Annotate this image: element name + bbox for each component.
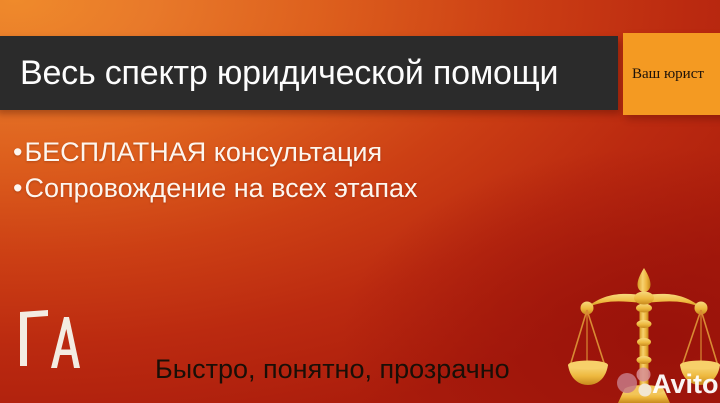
tagline-text: Быстро, понятно, прозрачно xyxy=(155,354,510,385)
legal-services-ad-banner: Весь спектр юридической помощи Ваш юрист… xyxy=(0,0,720,403)
brand-badge-label: Ваш юрист xyxy=(623,66,704,83)
monogram-ga-icon xyxy=(18,302,80,368)
svg-text:Avito: Avito xyxy=(652,369,719,399)
list-item-label: БЕСПЛАТНАЯ консультация xyxy=(24,134,382,170)
avito-watermark: Avito xyxy=(616,363,720,399)
benefits-list: • БЕСПЛАТНАЯ консультация • Сопровождени… xyxy=(13,134,533,206)
avito-logo-icon: Avito xyxy=(616,363,720,399)
headline-bar: Весь спектр юридической помощи xyxy=(0,36,618,110)
headline-text: Весь спектр юридической помощи xyxy=(0,54,558,93)
bullet-marker-icon: • xyxy=(13,170,22,206)
brand-badge: Ваш юрист xyxy=(623,33,720,115)
list-item: • БЕСПЛАТНАЯ консультация xyxy=(13,134,533,170)
list-item: • Сопровождение на всех этапах xyxy=(13,170,533,206)
company-logo xyxy=(18,302,80,368)
list-item-label: Сопровождение на всех этапах xyxy=(24,170,417,206)
bullet-marker-icon: • xyxy=(13,134,22,170)
